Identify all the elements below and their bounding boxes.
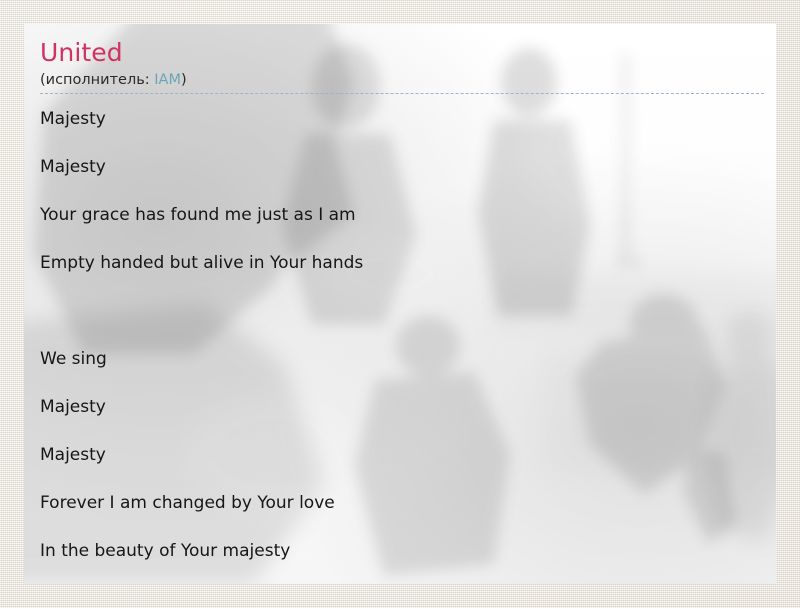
lyric-line: Majesty — [40, 156, 764, 182]
header: United (исполнитель: IAM) — [24, 24, 776, 90]
lyric-line: Majesty — [40, 108, 764, 134]
lyric-line-blank — [40, 300, 764, 326]
page-title: United — [40, 38, 764, 68]
page-frame: United (исполнитель: IAM) Majesty Majest… — [0, 0, 800, 608]
content-card: United (исполнитель: IAM) Majesty Majest… — [24, 24, 776, 584]
lyric-line: Majesty — [40, 396, 764, 422]
lyric-line: In the beauty of Your majesty — [40, 540, 764, 566]
lyric-line: Your grace has found me just as I am — [40, 204, 764, 230]
artist-link[interactable]: IAM — [154, 72, 181, 88]
lyric-line: Majesty — [40, 444, 764, 470]
lyric-line: Empty handed but alive in Your hands — [40, 252, 764, 278]
lyric-line: Forever I am changed by Your love — [40, 492, 764, 518]
artist-suffix-label: ) — [181, 72, 187, 88]
lyric-line: We sing — [40, 348, 764, 374]
artist-prefix-label: (исполнитель: — [40, 72, 154, 88]
lyrics-body: Majesty Majesty Your grace has found me … — [24, 94, 776, 566]
artist-line: (исполнитель: IAM) — [40, 70, 764, 90]
